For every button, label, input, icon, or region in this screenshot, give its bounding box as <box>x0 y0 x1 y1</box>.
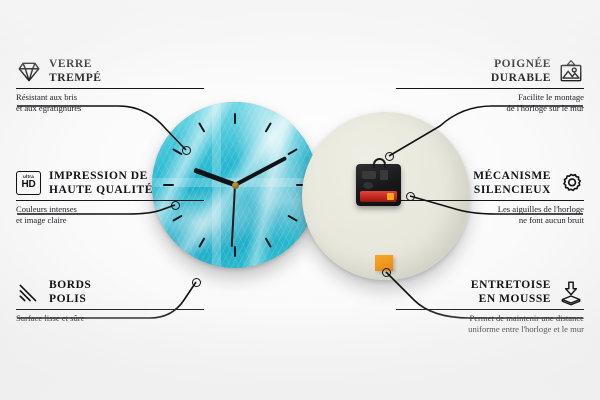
callout-mecanisme-silencieux: MÉCANISME SILENCIEUX Les aiguilles de l'… <box>396 170 584 225</box>
ultra-hd-large-label: HD <box>21 180 35 190</box>
callout-divider <box>16 309 204 310</box>
callout-title: ENTRETOISE EN MOUSSE <box>471 279 551 306</box>
foam-spacer-icon <box>558 280 584 306</box>
callout-dot-verre <box>182 146 191 155</box>
callout-title: MÉCANISME SILENCIEUX <box>473 170 551 197</box>
callout-description: Surface lisse et sûre <box>16 313 204 324</box>
callout-header: BORDS POLIS <box>16 279 204 306</box>
callout-dot-poignee <box>385 152 394 161</box>
callout-poignee-durable: POIGNÉE DURABLE Facilite le montage de l… <box>396 58 584 113</box>
callout-header: VERRE TREMPÉ <box>16 58 204 85</box>
callout-title: IMPRESSION DE HAUTE QUALITÉ <box>49 170 153 197</box>
callout-description: Permet de maintenir une distance uniform… <box>396 313 584 334</box>
gear-icon <box>558 171 584 197</box>
callout-divider <box>16 88 204 89</box>
connector-line-poignee <box>389 106 583 156</box>
callout-title: VERRE TREMPÉ <box>49 58 102 85</box>
polished-edges-icon <box>16 280 42 306</box>
callout-header: MÉCANISME SILENCIEUX <box>396 170 584 197</box>
callout-title: BORDS POLIS <box>49 279 91 306</box>
callout-description: Couleurs intenses et image claire <box>16 204 204 225</box>
callout-header: ultra HD IMPRESSION DE HAUTE QUALITÉ <box>16 170 204 197</box>
picture-hanger-icon <box>558 59 584 85</box>
callout-divider <box>396 200 584 201</box>
callout-bords-polis: BORDS POLIS Surface lisse et sûre <box>16 279 204 324</box>
callout-divider <box>396 88 584 89</box>
callout-header: ENTRETOISE EN MOUSSE <box>396 279 584 306</box>
product-infographic: VERRE TREMPÉ Résistant aux bris et aux é… <box>0 0 600 400</box>
callout-description: Résistant aux bris et aux égratignures <box>16 92 204 113</box>
callout-entretoise-en-mousse: ENTRETOISE EN MOUSSE Permet de maintenir… <box>396 279 584 334</box>
callout-title: POIGNÉE DURABLE <box>491 58 551 85</box>
callout-description: Facilite le montage de l'horloge sur le … <box>396 92 584 113</box>
callout-dot-entretoise <box>382 268 391 277</box>
callout-divider <box>396 309 584 310</box>
callout-verre-trempe: VERRE TREMPÉ Résistant aux bris et aux é… <box>16 58 204 113</box>
callout-description: Les aiguilles de l'horloge ne font aucun… <box>396 204 584 225</box>
callout-header: POIGNÉE DURABLE <box>396 58 584 85</box>
ultra-hd-icon: ultra HD <box>16 171 42 197</box>
callout-divider <box>16 200 204 201</box>
diamond-icon <box>16 59 42 85</box>
callout-impression-haute-qualite: ultra HD IMPRESSION DE HAUTE QUALITÉ Cou… <box>16 170 204 225</box>
